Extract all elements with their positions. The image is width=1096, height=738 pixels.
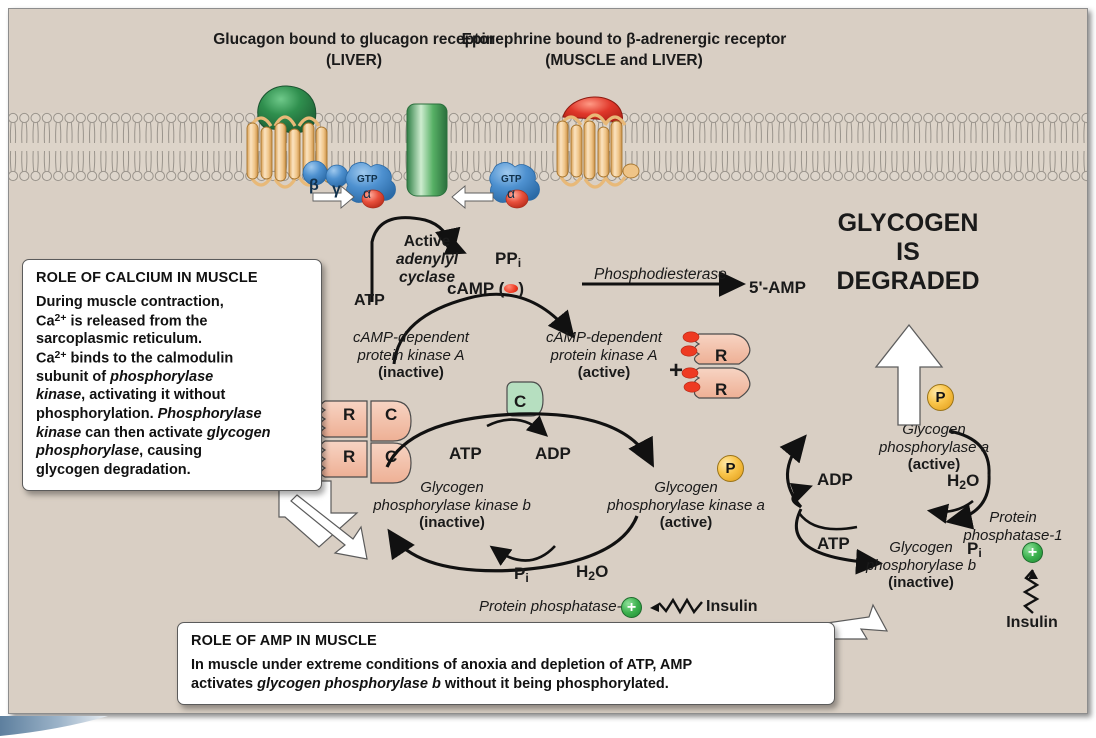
- pk-b-state: (inactive): [373, 514, 531, 532]
- activator-badge-right: +: [1022, 542, 1043, 563]
- title-epinephrine-main: Epinephrine bound to β-adrenergic recept…: [462, 31, 787, 49]
- atp-label-left-cycle: ATP: [449, 444, 482, 464]
- callout-amp-body: In muscle under extreme conditions of an…: [191, 656, 822, 693]
- atp-adp-arc: [487, 420, 545, 434]
- pka-active-line2: protein kinase A: [546, 347, 662, 365]
- callout-calcium-body: During muscle contraction,Ca2+ is releas…: [36, 293, 309, 479]
- title-epinephrine: Epinephrine bound to β-adrenergic recept…: [462, 31, 787, 70]
- atp-arc: [799, 513, 857, 529]
- callout-calcium-heading: ROLE OF CALCIUM IN MUSCLE: [36, 270, 309, 286]
- phosphodiesterase-label: Phosphodiesterase: [594, 266, 727, 284]
- adenylyl-cyclase-protein: [407, 104, 447, 196]
- insulin-squiggle-right: [1022, 565, 1044, 615]
- g-alpha-label-left: α: [363, 185, 371, 201]
- gp-b-state: (inactive): [866, 574, 976, 592]
- protein-phosphatase-1-left: Protein phosphatase-1: [479, 598, 630, 616]
- kinase-activation-arc: [387, 414, 651, 467]
- water-pi-arc: [493, 546, 555, 561]
- water-label-left-cycle: H2O: [576, 562, 608, 583]
- outcome-line1: GLYCOGEN: [836, 209, 979, 238]
- glycogen-phosphorylase-b-label: Glycogen phosphorylase b (inactive): [866, 539, 976, 592]
- dimer-r-label-2: R: [715, 380, 727, 400]
- water-h-right: H: [947, 471, 959, 490]
- pk-a-state: (active): [607, 514, 765, 532]
- insulin-label-left: Insulin: [706, 598, 758, 617]
- water-h-left: H: [576, 562, 588, 581]
- camp-paren-close: ): [518, 279, 524, 298]
- pi-text-left: P: [514, 564, 525, 583]
- title-glucagon: Glucagon bound to glucagon receptor (LIV…: [213, 31, 495, 70]
- epinephrine-ligand: [563, 97, 622, 125]
- camp-text: cAMP: [447, 279, 494, 298]
- phosphate-badge-kinase-a: P: [717, 455, 744, 482]
- calcium-pointer-arrow: [295, 493, 381, 565]
- holo-r-label-2: R: [343, 447, 355, 467]
- pka-inactive-label: cAMP-dependent protein kinase A (inactiv…: [353, 329, 469, 382]
- phos-kinase-a-label: Glycogen phosphorylase kinase a (active): [607, 479, 765, 532]
- outcome-line3: DEGRADED: [836, 267, 979, 296]
- water-o-right: O: [966, 471, 979, 490]
- gp-b-line1: Glycogen: [866, 539, 976, 557]
- pi-sub-right: i: [978, 546, 981, 560]
- pk-b-line1: Glycogen: [373, 479, 531, 497]
- camp-label: cAMP (): [447, 279, 524, 299]
- pka-active-state: (active): [546, 364, 662, 382]
- callout-amp-heading: ROLE OF AMP IN MUSCLE: [191, 633, 822, 649]
- figure-stage: Glucagon bound to glucagon receptor (LIV…: [0, 0, 1096, 738]
- pk-a-line1: Glycogen: [607, 479, 765, 497]
- gp-b-line2: phosphorylase b: [866, 557, 976, 575]
- camp-molecule-dot: [504, 284, 518, 293]
- atp-label-right-cycle: ATP: [817, 534, 850, 554]
- ppi-sub: i: [518, 256, 521, 270]
- phos-kinase-b-label: Glycogen phosphorylase kinase b (inactiv…: [373, 479, 531, 532]
- dimer-r-label-1: R: [715, 346, 727, 366]
- cyclase-line2: adenylyl: [396, 251, 458, 269]
- pi-label-right-cycle: Pi: [967, 539, 982, 560]
- pi-text-right: P: [967, 539, 978, 558]
- gtp-label-left: GTP: [357, 174, 378, 186]
- g-alpha-label-right: α: [507, 185, 515, 201]
- gtp-label-right: GTP: [501, 174, 522, 186]
- pka-active-label: cAMP-dependent protein kinase A (active): [546, 329, 662, 382]
- outcome-line2: IS: [836, 238, 979, 267]
- atp-label-cyclase: ATP: [354, 292, 385, 311]
- callout-calcium: ROLE OF CALCIUM IN MUSCLE During muscle …: [22, 259, 322, 491]
- ppi-text: PP: [495, 249, 518, 268]
- gp-a-line2: phosphorylase a: [879, 439, 989, 457]
- glycogen-degraded-arrow: [863, 317, 955, 427]
- g-beta-label: β: [309, 177, 319, 196]
- pka-active-line1: cAMP-dependent: [546, 329, 662, 347]
- pka-inactive-line1: cAMP-dependent: [353, 329, 469, 347]
- title-glucagon-sub: (LIVER): [213, 52, 495, 70]
- pka-inactive-state: (inactive): [353, 364, 469, 382]
- activation-arrow-right: [452, 186, 493, 208]
- cyclase-line1: Active: [396, 233, 458, 251]
- holo-r-label-1: R: [343, 405, 355, 425]
- g-gamma-label: γ: [332, 181, 341, 200]
- outcome-text: GLYCOGEN IS DEGRADED: [836, 209, 979, 296]
- pk-a-line2: phosphorylase kinase a: [607, 497, 765, 515]
- adp-label-right-cycle: ADP: [817, 470, 853, 490]
- adp-label-left-cycle: ADP: [535, 444, 571, 464]
- water-o-left: O: [595, 562, 608, 581]
- ppi-label: PPi: [495, 249, 521, 270]
- activator-badge-left: +: [621, 597, 642, 618]
- insulin-inhibition-squiggle-left: [646, 598, 704, 618]
- title-glucagon-main: Glucagon bound to glucagon receptor: [213, 31, 495, 49]
- pk-b-line2: phosphorylase kinase b: [373, 497, 531, 515]
- figure-panel: Glucagon bound to glucagon receptor (LIV…: [8, 8, 1088, 714]
- amp-label: 5'-AMP: [749, 278, 806, 298]
- water-label-right-cycle: H2O: [947, 471, 979, 492]
- phos-activation-arc: [787, 439, 803, 507]
- pka-plus-sign: +: [669, 357, 683, 385]
- title-epinephrine-sub: (MUSCLE and LIVER): [462, 52, 787, 70]
- pi-label-left-cycle: Pi: [514, 564, 529, 585]
- pp1-right-line1: Protein: [963, 509, 1062, 527]
- callout-amp: ROLE OF AMP IN MUSCLE In muscle under ex…: [177, 622, 835, 705]
- glycogen-phosphorylase-a-label: Glycogen phosphorylase a (active): [879, 421, 989, 474]
- pi-sub-left: i: [525, 571, 528, 585]
- insulin-label-right: Insulin: [1006, 614, 1058, 633]
- corner-swoosh-decoration: [0, 716, 110, 738]
- pka-inactive-line2: protein kinase A: [353, 347, 469, 365]
